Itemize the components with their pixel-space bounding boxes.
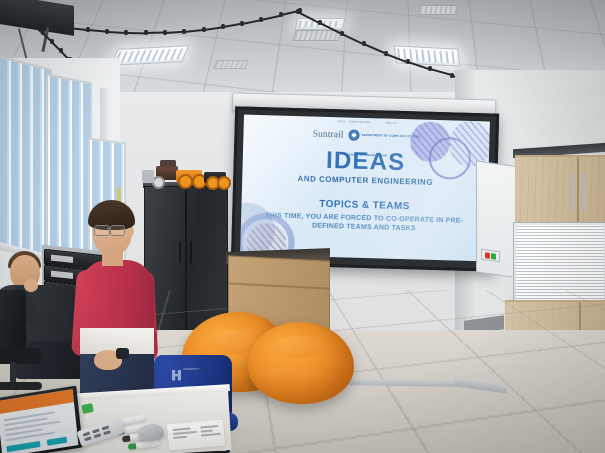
projected-slide: IDEAS · COMPUTER ENG. Page 4.1 Suntrail … <box>240 115 490 262</box>
cabinet-handle[interactable] <box>583 173 586 211</box>
slide-meta-right: Page 4.1 <box>385 122 396 125</box>
string-light-bulb <box>32 22 36 27</box>
laptop[interactable] <box>0 386 83 453</box>
cabinet-door-seam <box>577 157 579 225</box>
cabinet-handle[interactable] <box>190 241 192 263</box>
screen-up-button[interactable] <box>491 253 496 260</box>
office-chair-back <box>0 290 26 350</box>
string-light-bulb <box>50 39 54 44</box>
string-light-bulb <box>221 24 225 29</box>
beanbag-fold <box>260 368 322 386</box>
eyeglasses-icon <box>110 225 125 236</box>
ceiling-air-vent <box>213 60 249 69</box>
wall-cabinet-upper[interactable] <box>515 155 605 225</box>
box-seam <box>229 282 329 289</box>
ceiling-light-panel <box>394 45 461 66</box>
presenter-shirt-red-band <box>80 260 154 330</box>
robot-wheel <box>217 176 231 190</box>
robot-model-head <box>160 160 176 167</box>
robot-model-gray <box>142 170 154 183</box>
slide-header-meta: IDEAS · COMPUTER ENG. Page 4.1 <box>337 120 396 125</box>
string-light-bulb <box>340 31 344 36</box>
string-light-bulb <box>406 59 410 64</box>
eyeglasses-icon <box>94 225 110 236</box>
department-seal-icon <box>348 130 359 141</box>
string-light-bulb <box>67 25 71 30</box>
cabinet-handle[interactable] <box>571 173 574 211</box>
string-light-bulb <box>59 48 63 53</box>
printed-papers[interactable] <box>167 420 225 451</box>
string-light-bulb <box>259 17 263 22</box>
orange-beanbag-right[interactable] <box>248 322 354 404</box>
screen-down-button[interactable] <box>485 252 490 259</box>
department-name: DEPARTMENT OF COMPLEX SYSTEMS <box>362 134 421 139</box>
string-light-bulb <box>428 66 432 71</box>
slide-meta-left: IDEAS · COMPUTER ENG. <box>337 120 371 124</box>
presenter-wristwatch <box>116 348 129 359</box>
string-light-bulb <box>47 23 51 28</box>
projection-screen: IDEAS · COMPUTER ENG. Page 4.1 Suntrail … <box>231 106 499 271</box>
string-light-bulb <box>202 27 206 32</box>
string-light-bulb <box>86 27 90 32</box>
department-logo: DEPARTMENT OF COMPLEX SYSTEMS <box>348 130 420 143</box>
string-light-bulb <box>279 12 283 17</box>
robot-wheel <box>178 174 193 189</box>
string-light-bulb <box>362 41 366 46</box>
string-light-bulb <box>318 20 322 25</box>
string-light-bulb <box>163 30 167 35</box>
marker-cap <box>122 435 131 442</box>
string-light-bulb <box>384 51 388 56</box>
vertical-blinds <box>0 58 50 261</box>
laptop-accent-block <box>6 441 40 452</box>
beanbag-fold <box>274 336 324 358</box>
string-light-bulb <box>182 29 186 34</box>
cabinet-handle[interactable] <box>179 241 181 263</box>
string-light-bulb <box>296 9 300 14</box>
laptop-screen-content <box>0 389 78 453</box>
office-chair-base <box>0 382 42 390</box>
chair-logo: UNIVERSITY FACULTY <box>172 369 218 381</box>
string-light-bulb <box>105 29 109 34</box>
slide-brand-name: Suntrail <box>313 129 344 140</box>
ceiling-air-vent <box>418 5 458 15</box>
string-light-bulb <box>144 30 148 35</box>
chair-logo-mark-icon <box>172 370 181 381</box>
chair-logo-line1: UNIVERSITY <box>183 368 200 371</box>
office-chair-seat <box>0 348 42 364</box>
office-chair[interactable] <box>0 290 50 390</box>
marker-cap <box>128 443 137 450</box>
laptop-accent-block <box>47 437 67 446</box>
string-light-bulb <box>450 73 454 78</box>
string-light-bulb <box>240 21 244 26</box>
room-photo-scene: IDEAS · COMPUTER ENG. Page 4.1 Suntrail … <box>0 0 605 453</box>
window-left-1 <box>0 55 52 263</box>
eyeglasses-bridge <box>107 228 111 229</box>
